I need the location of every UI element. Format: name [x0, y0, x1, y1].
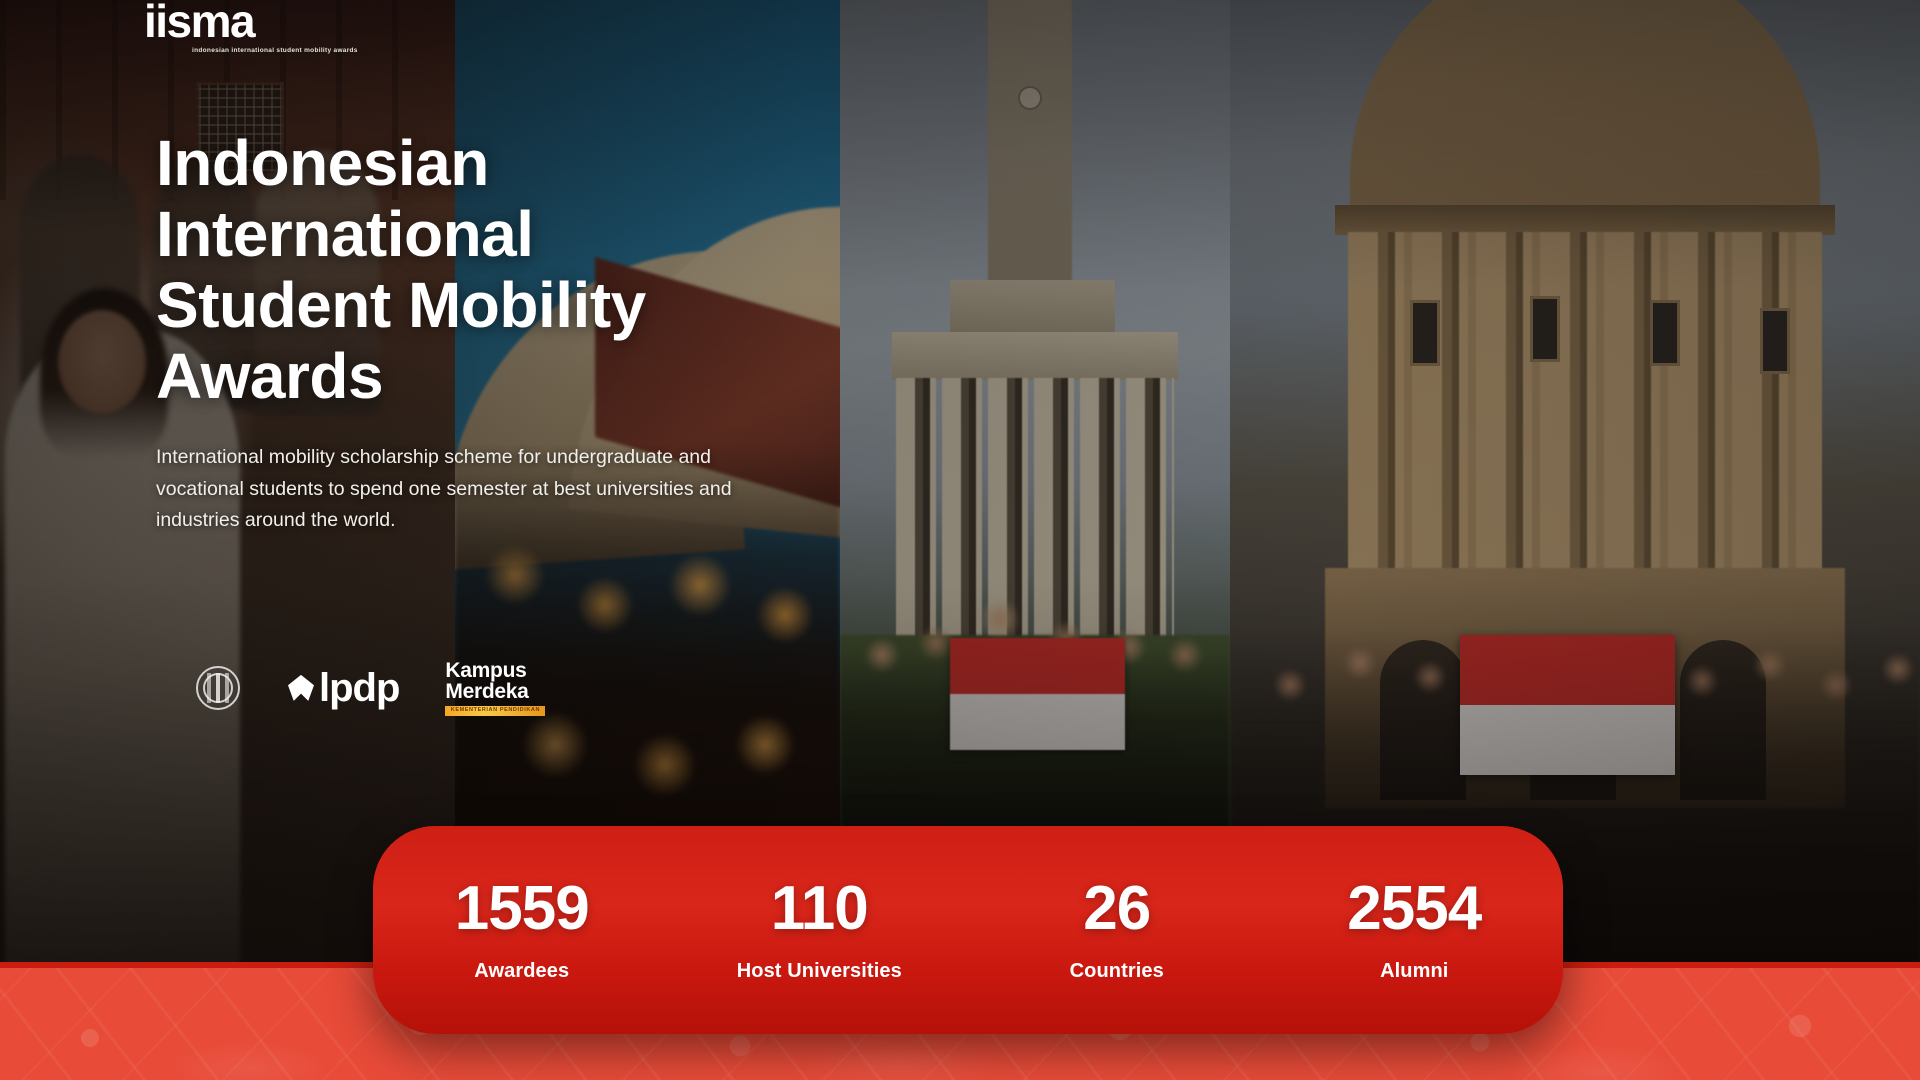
headline-line-3: Student Mobility: [156, 269, 646, 341]
hero-description: International mobility scholarship schem…: [156, 442, 781, 537]
stat-value: 26: [968, 878, 1266, 940]
stat-value: 110: [671, 878, 969, 940]
page-title: Indonesian International Student Mobilit…: [156, 128, 956, 412]
lpdp-mark-icon: [286, 671, 316, 705]
window-decor: [1650, 300, 1680, 366]
stat-value: 2554: [1266, 878, 1564, 940]
stat-label: Alumni: [1266, 960, 1564, 983]
iisma-wordmark: iisma: [144, 0, 358, 44]
kampus-merdeka-tagline-bar: KEMENTERIAN PENDIDIKAN: [445, 706, 545, 716]
kampus-merdeka-tagline: KEMENTERIAN PENDIDIKAN: [451, 708, 540, 714]
hero-copy-block: Indonesian International Student Mobilit…: [156, 128, 956, 537]
student-face-decor: [58, 310, 146, 414]
panel-oxford-radcliffe-camera: [1230, 0, 1920, 965]
garuda-pancasila-emblem-icon: [196, 666, 240, 710]
stats-card: 1559 Awardees 110 Host Universities 26 C…: [373, 826, 1563, 1034]
stat-label: Host Universities: [671, 960, 969, 983]
building-drum-decor: [1348, 232, 1822, 572]
indonesian-flag-decor: [1460, 635, 1675, 775]
tower-base-decor: [950, 280, 1115, 335]
stat-host-universities: 110 Host Universities: [671, 878, 969, 983]
kampus-merdeka-logo[interactable]: Kampus Merdeka KEMENTERIAN PENDIDIKAN: [445, 660, 545, 716]
headline-line-1: Indonesian: [156, 127, 489, 199]
stat-awardees: 1559 Awardees: [373, 878, 671, 983]
window-decor: [1760, 308, 1790, 374]
kampus-merdeka-line-1: Kampus: [445, 660, 545, 681]
indonesian-flag-decor: [950, 638, 1125, 750]
lpdp-logo[interactable]: lpdp: [286, 668, 399, 708]
stat-countries: 26 Countries: [968, 878, 1266, 983]
lpdp-wordmark: lpdp: [319, 668, 399, 708]
stat-value: 1559: [373, 878, 671, 940]
headline-line-4: Awards: [156, 340, 383, 412]
kampus-merdeka-line-2: Merdeka: [445, 681, 545, 702]
stat-label: Countries: [968, 960, 1266, 983]
iisma-logo[interactable]: iisma indonesian international student m…: [144, 0, 358, 55]
building-cornice-decor: [1335, 205, 1835, 235]
stat-alumni: 2554 Alumni: [1266, 878, 1564, 983]
window-decor: [1530, 296, 1560, 362]
partner-logos: lpdp Kampus Merdeka KEMENTERIAN PENDIDIK…: [196, 660, 545, 716]
bell-tower-decor: [988, 0, 1072, 290]
clock-face-decor: [1018, 86, 1042, 110]
headline-line-2: International: [156, 198, 534, 270]
window-decor: [1410, 300, 1440, 366]
stat-label: Awardees: [373, 960, 671, 983]
iisma-logo-tagline: indonesian international student mobilit…: [192, 46, 358, 55]
